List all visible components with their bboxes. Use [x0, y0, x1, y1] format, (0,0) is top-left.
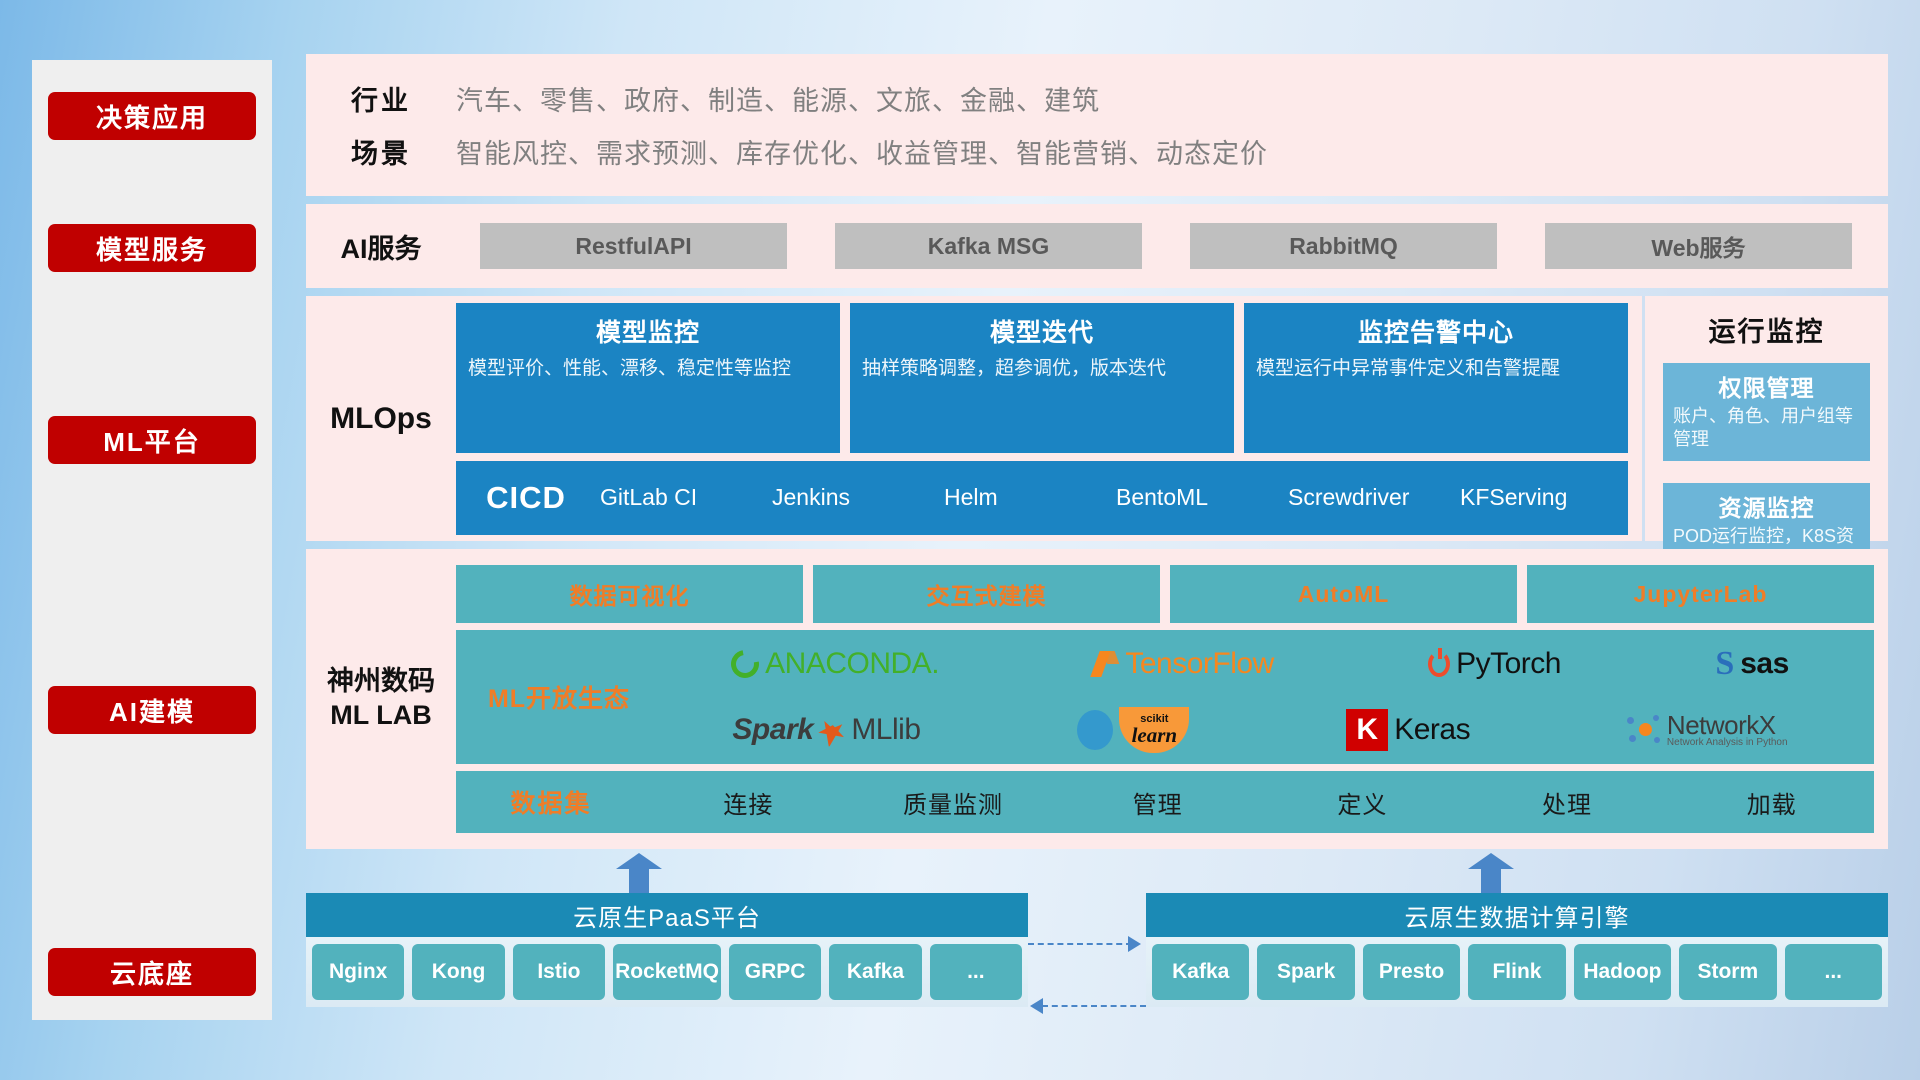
paas-title: 云原生PaaS平台	[306, 893, 1028, 937]
band-cloud-foundation: 云原生PaaS平台 Nginx Kong Istio RocketMQ GRPC…	[306, 893, 1888, 1033]
keras-logo: K Keras	[1346, 709, 1470, 751]
rail-chip-ml-platform[interactable]: ML平台	[48, 416, 256, 464]
layer-rail: 决策应用 模型服务 ML平台 AI建模 云底座	[32, 60, 272, 1020]
cicd-label: CICD	[456, 480, 596, 516]
dataset-item-connect[interactable]: 连接	[646, 785, 851, 820]
band-decision-applications: 行业 汽车、零售、政府、制造、能源、文旅、金融、建筑 场景 智能风控、需求预测、…	[306, 54, 1888, 196]
scikit-blob-icon	[1077, 710, 1113, 750]
data-chip-kafka[interactable]: Kafka	[1152, 944, 1249, 1000]
paas-chip-kong[interactable]: Kong	[412, 944, 504, 1000]
anaconda-logo: ANACONDA.	[731, 647, 939, 681]
card-title: 权限管理	[1673, 369, 1860, 403]
band-ai-modeling: 神州数码 ML LAB 数据可视化 交互式建模 AutoML JupyterLa…	[306, 549, 1888, 849]
ai-service-chip-list: RestfulAPI Kafka MSG RabbitMQ Web服务	[456, 223, 1888, 269]
networkx-logo-subtext: Network Analysis in Python	[1667, 738, 1788, 748]
architecture-main: 行业 汽车、零售、政府、制造、能源、文旅、金融、建筑 场景 智能风控、需求预测、…	[306, 54, 1888, 857]
ml-lab-label: 神州数码 ML LAB	[306, 665, 456, 733]
industry-values: 汽车、零售、政府、制造、能源、文旅、金融、建筑	[456, 79, 1100, 118]
spark-star-icon	[819, 723, 846, 737]
row-industry: 行业 汽车、零售、政府、制造、能源、文旅、金融、建筑	[306, 72, 1888, 125]
dataset-item-load[interactable]: 加载	[1669, 785, 1874, 820]
ai-service-label: AI服务	[306, 227, 456, 266]
data-chip-presto[interactable]: Presto	[1363, 944, 1460, 1000]
cloud-native-data-engine-group: 云原生数据计算引擎 Kafka Spark Presto Flink Hadoo…	[1146, 893, 1888, 1007]
sas-logo: S sas	[1715, 645, 1788, 683]
pytorch-logo-text: PyTorch	[1456, 647, 1561, 681]
mlops-card-list: 模型监控 模型评价、性能、漂移、稳定性等监控 模型迭代 抽样策略调整，超参调优，…	[456, 303, 1628, 453]
connector-line-bottom	[1042, 1005, 1146, 1007]
service-chip-kafka-msg[interactable]: Kafka MSG	[835, 223, 1142, 269]
dataset-item-define[interactable]: 定义	[1260, 785, 1465, 820]
monitor-card-permission[interactable]: 权限管理 账户、角色、用户组等管理	[1663, 363, 1870, 461]
cicd-item-jenkins[interactable]: Jenkins	[768, 484, 940, 510]
paas-chip-list: Nginx Kong Istio RocketMQ GRPC Kafka ...	[306, 937, 1028, 1007]
rail-chip-cloud-base[interactable]: 云底座	[48, 948, 256, 996]
cicd-item-bentoml[interactable]: BentoML	[1112, 484, 1284, 510]
tool-chip-automl[interactable]: AutoML	[1170, 565, 1517, 623]
mlops-section: MLOps 模型监控 模型评价、性能、漂移、稳定性等监控 模型迭代 抽样策略调整…	[306, 296, 1642, 541]
learn-text: learn	[1132, 725, 1178, 746]
scikit-learn-logo: scikit learn	[1077, 707, 1189, 753]
industry-label: 行业	[306, 79, 456, 118]
keras-k-icon: K	[1346, 709, 1388, 751]
card-desc: 模型运行中异常事件定义和告警提醒	[1256, 357, 1616, 382]
paas-chip-istio[interactable]: Istio	[513, 944, 605, 1000]
up-arrow-data-engine-icon	[1468, 853, 1514, 893]
cloud-native-paas-group: 云原生PaaS平台 Nginx Kong Istio RocketMQ GRPC…	[306, 893, 1028, 1007]
paas-chip-grpc[interactable]: GRPC	[729, 944, 821, 1000]
mlops-card-model-monitoring[interactable]: 模型监控 模型评价、性能、漂移、稳定性等监控	[456, 303, 840, 453]
tensorflow-logo: TensorFlow	[1093, 647, 1273, 681]
tensorflow-logo-text: TensorFlow	[1125, 647, 1273, 681]
scenario-label: 场景	[306, 132, 456, 171]
band-ai-service: AI服务 RestfulAPI Kafka MSG RabbitMQ Web服务	[306, 204, 1888, 288]
service-chip-restfulapi[interactable]: RestfulAPI	[480, 223, 787, 269]
networkx-graph-icon	[1627, 715, 1661, 745]
cicd-item-kfserving[interactable]: KFServing	[1456, 484, 1628, 510]
scenario-values: 智能风控、需求预测、库存优化、收益管理、智能营销、动态定价	[456, 132, 1268, 171]
data-chip-hadoop[interactable]: Hadoop	[1574, 944, 1671, 1000]
paas-chip-nginx[interactable]: Nginx	[312, 944, 404, 1000]
mlops-card-model-iteration[interactable]: 模型迭代 抽样策略调整，超参调优，版本迭代	[850, 303, 1234, 453]
ml-lab-label-line2: ML LAB	[306, 699, 456, 733]
card-desc: 账户、角色、用户组等管理	[1673, 405, 1860, 451]
ecosystem-logo-row-1: ANACONDA. TensorFlow PyTorch	[654, 633, 1866, 695]
pytorch-flame-icon	[1428, 651, 1450, 677]
data-engine-title: 云原生数据计算引擎	[1146, 893, 1888, 937]
data-chip-flink[interactable]: Flink	[1468, 944, 1565, 1000]
cicd-item-screwdriver[interactable]: Screwdriver	[1284, 484, 1456, 510]
scikit-learn-wordmark: scikit learn	[1119, 707, 1189, 753]
rail-chip-model-service[interactable]: 模型服务	[48, 224, 256, 272]
pytorch-logo: PyTorch	[1428, 647, 1561, 681]
data-chip-storm[interactable]: Storm	[1679, 944, 1776, 1000]
dataset-label: 数据集	[456, 784, 646, 820]
dataset-item-manage[interactable]: 管理	[1055, 785, 1260, 820]
spark-logo-text: Spark	[732, 713, 813, 747]
mllib-logo-text: MLlib	[851, 713, 920, 747]
run-monitoring-title: 运行监控	[1663, 310, 1870, 349]
paas-chip-more[interactable]: ...	[930, 944, 1022, 1000]
connector-arrowhead-right	[1128, 936, 1141, 952]
spark-mllib-logo: Spark MLlib	[732, 713, 920, 747]
band-ml-platform: MLOps 模型监控 模型评价、性能、漂移、稳定性等监控 模型迭代 抽样策略调整…	[306, 296, 1888, 541]
dataset-item-quality[interactable]: 质量监测	[851, 785, 1056, 820]
anaconda-ring-icon	[726, 645, 765, 684]
rail-chip-ai-modeling[interactable]: AI建模	[48, 686, 256, 734]
data-chip-more[interactable]: ...	[1785, 944, 1882, 1000]
tool-chip-data-visualization[interactable]: 数据可视化	[456, 565, 803, 623]
ml-lab-tool-row: 数据可视化 交互式建模 AutoML JupyterLab	[456, 565, 1874, 623]
card-desc: 模型评价、性能、漂移、稳定性等监控	[468, 357, 828, 382]
card-title: 模型监控	[468, 313, 828, 349]
up-arrow-paas-icon	[616, 853, 662, 893]
mlops-card-alert-center[interactable]: 监控告警中心 模型运行中异常事件定义和告警提醒	[1244, 303, 1628, 453]
dataset-row: 数据集 连接 质量监测 管理 定义 处理 加载	[456, 771, 1874, 833]
networkx-logo-text: NetworkX	[1667, 712, 1788, 738]
cicd-item-helm[interactable]: Helm	[940, 484, 1112, 510]
tensorflow-mark-icon	[1093, 649, 1119, 679]
paas-chip-kafka[interactable]: Kafka	[829, 944, 921, 1000]
data-engine-chip-list: Kafka Spark Presto Flink Hadoop Storm ..…	[1146, 937, 1888, 1007]
sas-s-icon: S	[1715, 645, 1734, 683]
ecosystem-logo-grid: ANACONDA. TensorFlow PyTorch	[654, 633, 1866, 761]
sas-logo-text: sas	[1740, 647, 1789, 681]
mlops-stack: 模型监控 模型评价、性能、漂移、稳定性等监控 模型迭代 抽样策略调整，超参调优，…	[456, 303, 1642, 535]
connector-line-top	[1028, 943, 1132, 945]
cicd-item-gitlab-ci[interactable]: GitLab CI	[596, 484, 768, 510]
mlops-label: MLOps	[306, 402, 456, 436]
card-desc: 抽样策略调整，超参调优，版本迭代	[862, 357, 1222, 382]
data-chip-spark[interactable]: Spark	[1257, 944, 1354, 1000]
ml-lab-section: 神州数码 ML LAB 数据可视化 交互式建模 AutoML JupyterLa…	[306, 549, 1888, 849]
rail-chip-decision-app[interactable]: 决策应用	[48, 92, 256, 140]
paas-chip-rocketmq[interactable]: RocketMQ	[613, 944, 721, 1000]
dataset-item-process[interactable]: 处理	[1465, 785, 1670, 820]
ml-open-ecosystem-row: ML开放生态 ANACONDA. TensorFlow	[456, 630, 1874, 764]
networkx-logo: NetworkX Network Analysis in Python	[1627, 712, 1788, 748]
anaconda-logo-text: ANACONDA.	[765, 647, 939, 681]
tool-chip-jupyterlab[interactable]: JupyterLab	[1527, 565, 1874, 623]
cicd-bar: CICD GitLab CI Jenkins Helm BentoML Scre…	[456, 461, 1628, 535]
service-chip-rabbitmq[interactable]: RabbitMQ	[1190, 223, 1497, 269]
connector-arrowhead-left	[1030, 998, 1043, 1014]
keras-logo-text: Keras	[1394, 713, 1470, 747]
bidirectional-connector	[1028, 919, 1146, 1029]
run-monitoring-column: 运行监控 权限管理 账户、角色、用户组等管理 资源监控 POD运行监控，K8S资…	[1642, 296, 1888, 541]
tool-chip-interactive-modeling[interactable]: 交互式建模	[813, 565, 1160, 623]
ml-lab-stack: 数据可视化 交互式建模 AutoML JupyterLab ML开放生态 ANA…	[456, 565, 1888, 833]
ml-open-ecosystem-label: ML开放生态	[464, 679, 654, 715]
card-title: 模型迭代	[862, 313, 1222, 349]
card-title: 资源监控	[1673, 489, 1860, 523]
row-scenario: 场景 智能风控、需求预测、库存优化、收益管理、智能营销、动态定价	[306, 125, 1888, 178]
ecosystem-logo-row-2: Spark MLlib scikit learn	[654, 699, 1866, 761]
service-chip-web-service[interactable]: Web服务	[1545, 223, 1852, 269]
ml-lab-label-line1: 神州数码	[306, 665, 456, 699]
card-title: 监控告警中心	[1256, 313, 1616, 349]
